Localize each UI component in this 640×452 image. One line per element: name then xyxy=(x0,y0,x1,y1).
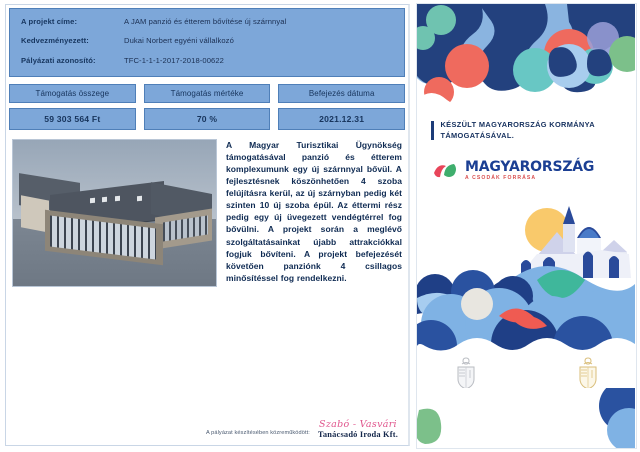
right-pane: KÉSZÜLT MAGYARORSZÁG KORMÁNYA TÁMOGATÁSÁ… xyxy=(416,0,640,452)
project-info-panel: A projekt címe: A JAM panzió és étterem … xyxy=(9,8,405,77)
info-row: Pályázati azonosító: TFC-1-1-1-2017-2018… xyxy=(21,57,394,65)
credit-firm-name: Tanácsadó Iroda Kft. xyxy=(318,431,398,439)
info-value-application-id: TFC-1-1-1-2017-2018-00622 xyxy=(124,57,224,65)
brand-swoosh-icon xyxy=(433,161,459,180)
stat-value: 70 % xyxy=(144,108,271,130)
body-section: A Magyar Turisztikai Ügynökség támogatás… xyxy=(12,139,402,418)
government-note: KÉSZÜLT MAGYARORSZÁG KORMÁNYA TÁMOGATÁSÁ… xyxy=(431,120,621,141)
info-label-application-id: Pályázati azonosító: xyxy=(21,57,124,65)
credit-label: A pályázat készítésében közreműködött: xyxy=(206,430,310,439)
description-paragraph: A Magyar Turisztikai Ügynökség támogatás… xyxy=(226,139,402,284)
description-column: A Magyar Turisztikai Ügynökség támogatás… xyxy=(226,139,402,418)
stat-title: Támogatás mértéke xyxy=(144,84,271,103)
photo-dormer xyxy=(115,196,120,202)
coat-of-arms-icon xyxy=(452,356,480,390)
info-row: Kedvezményezett: Dukai Norbert egyéni vá… xyxy=(21,37,394,45)
coat-of-arms-icon xyxy=(574,356,602,390)
stat-grant-amount: Támogatás összege 59 303 564 Ft xyxy=(9,84,136,130)
credit-footer: A pályázat készítésében közreműködött: S… xyxy=(12,418,398,439)
swoosh-svg xyxy=(433,161,459,180)
bottom-blobs-svg xyxy=(417,388,635,448)
decorative-art-landscape xyxy=(417,194,636,356)
content-card: A projekt címe: A JAM panzió és étterem … xyxy=(5,4,410,446)
stat-title: Támogatás összege xyxy=(9,84,136,103)
stats-row: Támogatás összege 59 303 564 Ft Támogatá… xyxy=(9,84,405,130)
brand-wordmark: MAGYARORSZÁG A CSODÁK FORRÁSA xyxy=(465,160,594,181)
info-value-beneficiary: Dukai Norbert egyéni vállalkozó xyxy=(124,37,234,45)
info-row: A projekt címe: A JAM panzió és étterem … xyxy=(21,18,394,26)
magyarorszag-brand-logo: MAGYARORSZÁG A CSODÁK FORRÁSA xyxy=(433,160,594,181)
info-value-project-title: A JAM panzió és étterem bővítése új szár… xyxy=(124,18,286,26)
decorative-art-bottom xyxy=(417,388,636,448)
info-label-project-title: A projekt címe: xyxy=(21,18,124,26)
building-render-photo xyxy=(12,139,217,287)
stat-grant-rate: Támogatás mértéke 70 % xyxy=(144,84,271,130)
decorative-art-top xyxy=(417,4,636,116)
abstract-blobs-svg xyxy=(417,4,635,116)
right-panel-inner: KÉSZÜLT MAGYARORSZÁG KORMÁNYA TÁMOGATÁSÁ… xyxy=(416,3,637,449)
stat-value: 2021.12.31 xyxy=(278,108,405,130)
photo-dormer xyxy=(137,195,142,201)
stat-title: Befejezés dátuma xyxy=(278,84,405,103)
left-pane: A projekt címe: A JAM panzió és étterem … xyxy=(0,0,416,452)
accent-bar xyxy=(431,121,434,140)
info-label-beneficiary: Kedvezményezett: xyxy=(21,37,124,45)
credit-logo: Szabó - Vasvári Tanácsadó Iroda Kft. xyxy=(318,420,398,439)
poster: A projekt címe: A JAM panzió és étterem … xyxy=(0,0,640,452)
stat-completion-date: Befejezés dátuma 2021.12.31 xyxy=(278,84,405,130)
photo-dormer xyxy=(102,197,107,203)
stat-value: 59 303 564 Ft xyxy=(9,108,136,130)
brand-subtitle: A CSODÁK FORRÁSA xyxy=(465,176,594,181)
landscape-svg xyxy=(417,194,635,356)
government-note-text: KÉSZÜLT MAGYARORSZÁG KORMÁNYA TÁMOGATÁSÁ… xyxy=(441,120,622,141)
brand-name: MAGYARORSZÁG xyxy=(465,160,594,174)
credit-signature: Szabó - Vasvári xyxy=(318,420,398,430)
